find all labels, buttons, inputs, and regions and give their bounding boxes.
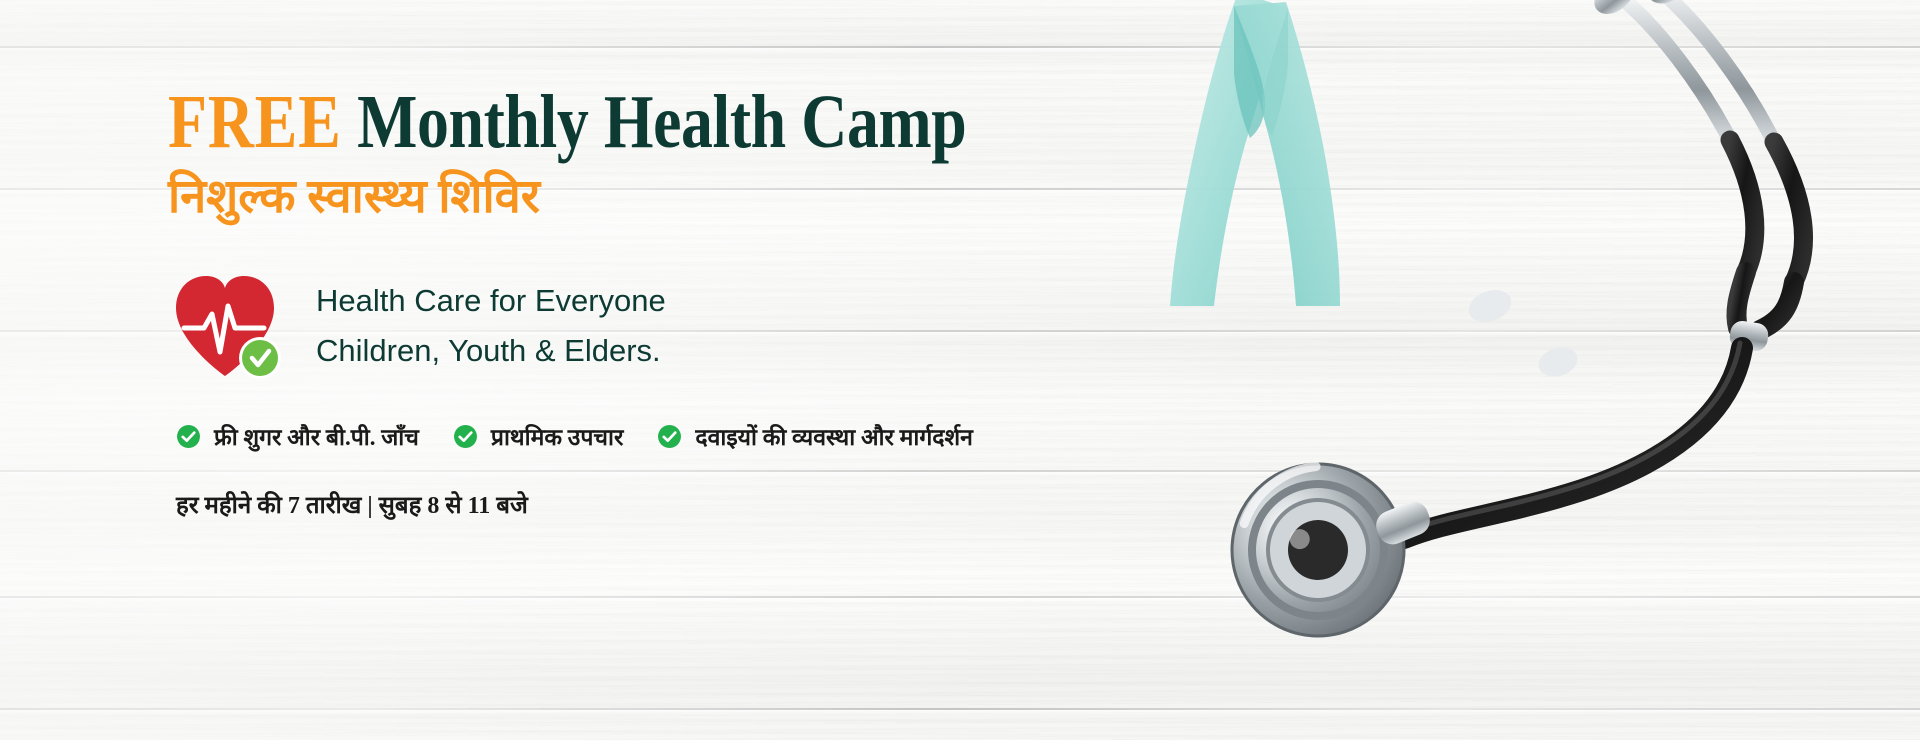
stethoscope-icon [1190,0,1920,740]
feature-list: फ्री शुगर और बी.पी. जाँच प्राथमिक उपचार … [168,420,1168,452]
subtitle-hindi: निशुल्क स्वास्थ्य शिविर [168,170,1168,224]
feature-item: प्राथमिक उपचार [453,420,624,452]
check-circle-icon [176,424,201,449]
feature-item: दवाइयों की व्यवस्था और मार्गदर्शन [657,420,973,452]
feature-label: फ्री शुगर और बी.पी. जाँच [214,420,419,452]
tagline-primary: Health Care for Everyone [316,283,666,319]
tagline-secondary: Children, Youth & Elders. [316,333,666,369]
feature-label: दवाइयों की व्यवस्था और मार्गदर्शन [695,420,973,452]
check-circle-icon [657,424,682,449]
banner-content: FREE Monthly Health Camp निशुल्क स्वास्थ… [168,84,1168,521]
headline-highlight: FREE [168,80,342,164]
feature-item: फ्री शुगर और बी.पी. जाँच [176,420,419,452]
feature-label: प्राथमिक उपचार [491,420,624,452]
headline-rest: Monthly Health Camp [357,80,966,164]
health-camp-banner: FREE Monthly Health Camp निशुल्क स्वास्थ… [0,0,1920,740]
tagline-list: Health Care for Everyone Children, Youth… [316,283,666,368]
camp-timing: हर महीने की 7 तारीख | सुबह 8 से 11 बजे [168,488,1168,521]
check-circle-icon [453,424,478,449]
tagline-block: Health Care for Everyone Children, Youth… [168,270,1168,382]
heart-pulse-icon [168,270,290,382]
page-title: FREE Monthly Health Camp [168,84,1008,160]
